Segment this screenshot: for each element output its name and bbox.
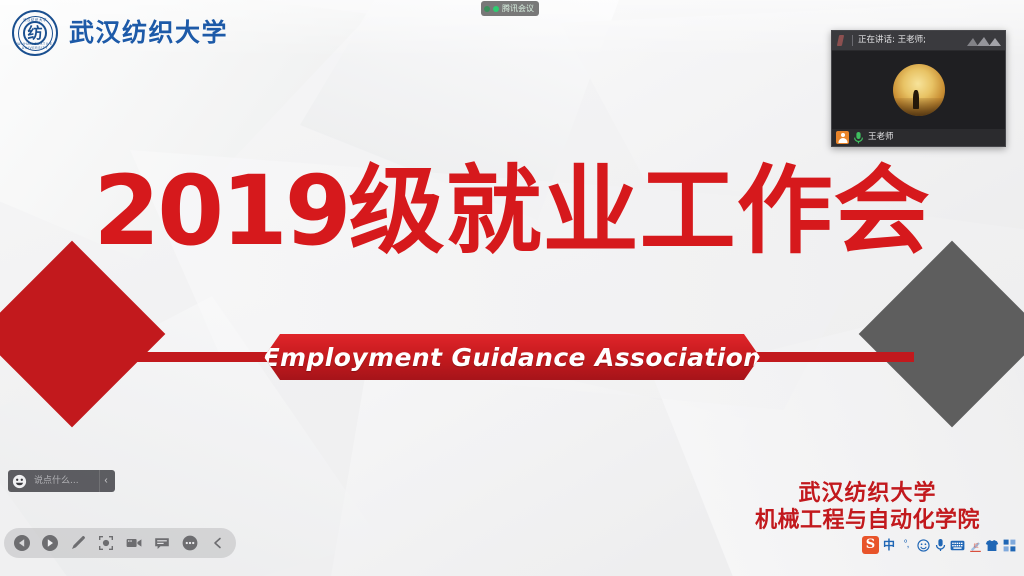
- participant-name: 王老师: [868, 133, 894, 142]
- organization-block: 武汉纺织大学 机械工程与自动化学院: [755, 480, 980, 534]
- microphone-on-icon[interactable]: [853, 131, 864, 144]
- punctuation-icon[interactable]: °,: [899, 536, 913, 554]
- organization-line-1: 武汉纺织大学: [755, 480, 980, 507]
- collapse-toolbar-button[interactable]: [204, 529, 232, 557]
- chinese-mode-icon[interactable]: 中: [882, 536, 896, 554]
- chat-input-placeholder[interactable]: 说点什么...: [28, 477, 99, 486]
- page-title: 2019级就业工作会: [0, 163, 1024, 259]
- red-diamond-decoration: [0, 241, 165, 428]
- organization-line-2: 机械工程与自动化学院: [755, 507, 980, 534]
- svg-text:红: 红: [973, 542, 978, 549]
- grid-apps-icon[interactable]: [1002, 536, 1016, 554]
- user-avatar-image: [893, 64, 945, 116]
- tencent-meeting-icon: [836, 35, 847, 46]
- tshirt-icon[interactable]: [985, 536, 999, 554]
- chevron-left-icon[interactable]: ‹: [99, 470, 113, 492]
- keyboard-icon[interactable]: [950, 536, 965, 554]
- audio-waveform-icon: [967, 35, 1001, 47]
- handwriting-icon[interactable]: 红: [968, 536, 982, 554]
- title-year: 2019: [93, 155, 348, 267]
- presenter-toolbar[interactable]: [4, 528, 236, 558]
- video-panel-footer: 王老师: [832, 129, 1005, 146]
- status-dot-icon: [484, 6, 490, 12]
- tencent-meeting-taskbar-pill[interactable]: 腾讯会议: [481, 1, 539, 16]
- smiley-icon[interactable]: [10, 472, 28, 490]
- title-rest: 级就业工作会: [349, 155, 931, 267]
- next-slide-button[interactable]: [36, 529, 64, 557]
- chat-button[interactable]: [148, 529, 176, 557]
- sogou-ime-toolbar[interactable]: S 中 °,: [860, 534, 1018, 556]
- more-options-button[interactable]: [176, 529, 204, 557]
- microphone-icon[interactable]: [933, 536, 947, 554]
- subtitle-ribbon: Employment Guidance Association: [264, 334, 760, 380]
- status-dot-icon: [493, 6, 499, 12]
- subtitle-text: Employment Guidance Association: [263, 343, 762, 372]
- seal-arc-bottom: WUHAN TEXTILE UNIVERSITY: [14, 42, 56, 50]
- video-thumbnail-panel[interactable]: 正在讲话: 王老师; 王老师: [831, 30, 1006, 147]
- chat-input-bar[interactable]: 说点什么... ‹: [8, 470, 115, 492]
- record-video-button[interactable]: [120, 529, 148, 557]
- video-panel-header: 正在讲话: 王老师;: [832, 31, 1005, 51]
- spotlight-button[interactable]: [92, 529, 120, 557]
- previous-slide-button[interactable]: [8, 529, 36, 557]
- smiley-icon[interactable]: [916, 536, 930, 554]
- participant-icon: [836, 131, 849, 144]
- university-name: 武汉纺织大学: [69, 21, 228, 46]
- annotate-pen-button[interactable]: [64, 529, 92, 557]
- university-brand: 武汉纺织大学 纺 WUHAN TEXTILE UNIVERSITY 武汉纺织大学: [12, 10, 228, 56]
- header-divider: [852, 35, 853, 46]
- gray-diamond-decoration: [859, 241, 1024, 428]
- speaking-status-label: 正在讲话: 王老师;: [858, 36, 926, 45]
- university-seal-icon: 武汉纺织大学 纺 WUHAN TEXTILE UNIVERSITY: [12, 10, 58, 56]
- tencent-meeting-label: 腾讯会议: [502, 5, 534, 13]
- video-stream-area[interactable]: [832, 51, 1005, 129]
- sogou-logo-icon[interactable]: S: [862, 536, 879, 554]
